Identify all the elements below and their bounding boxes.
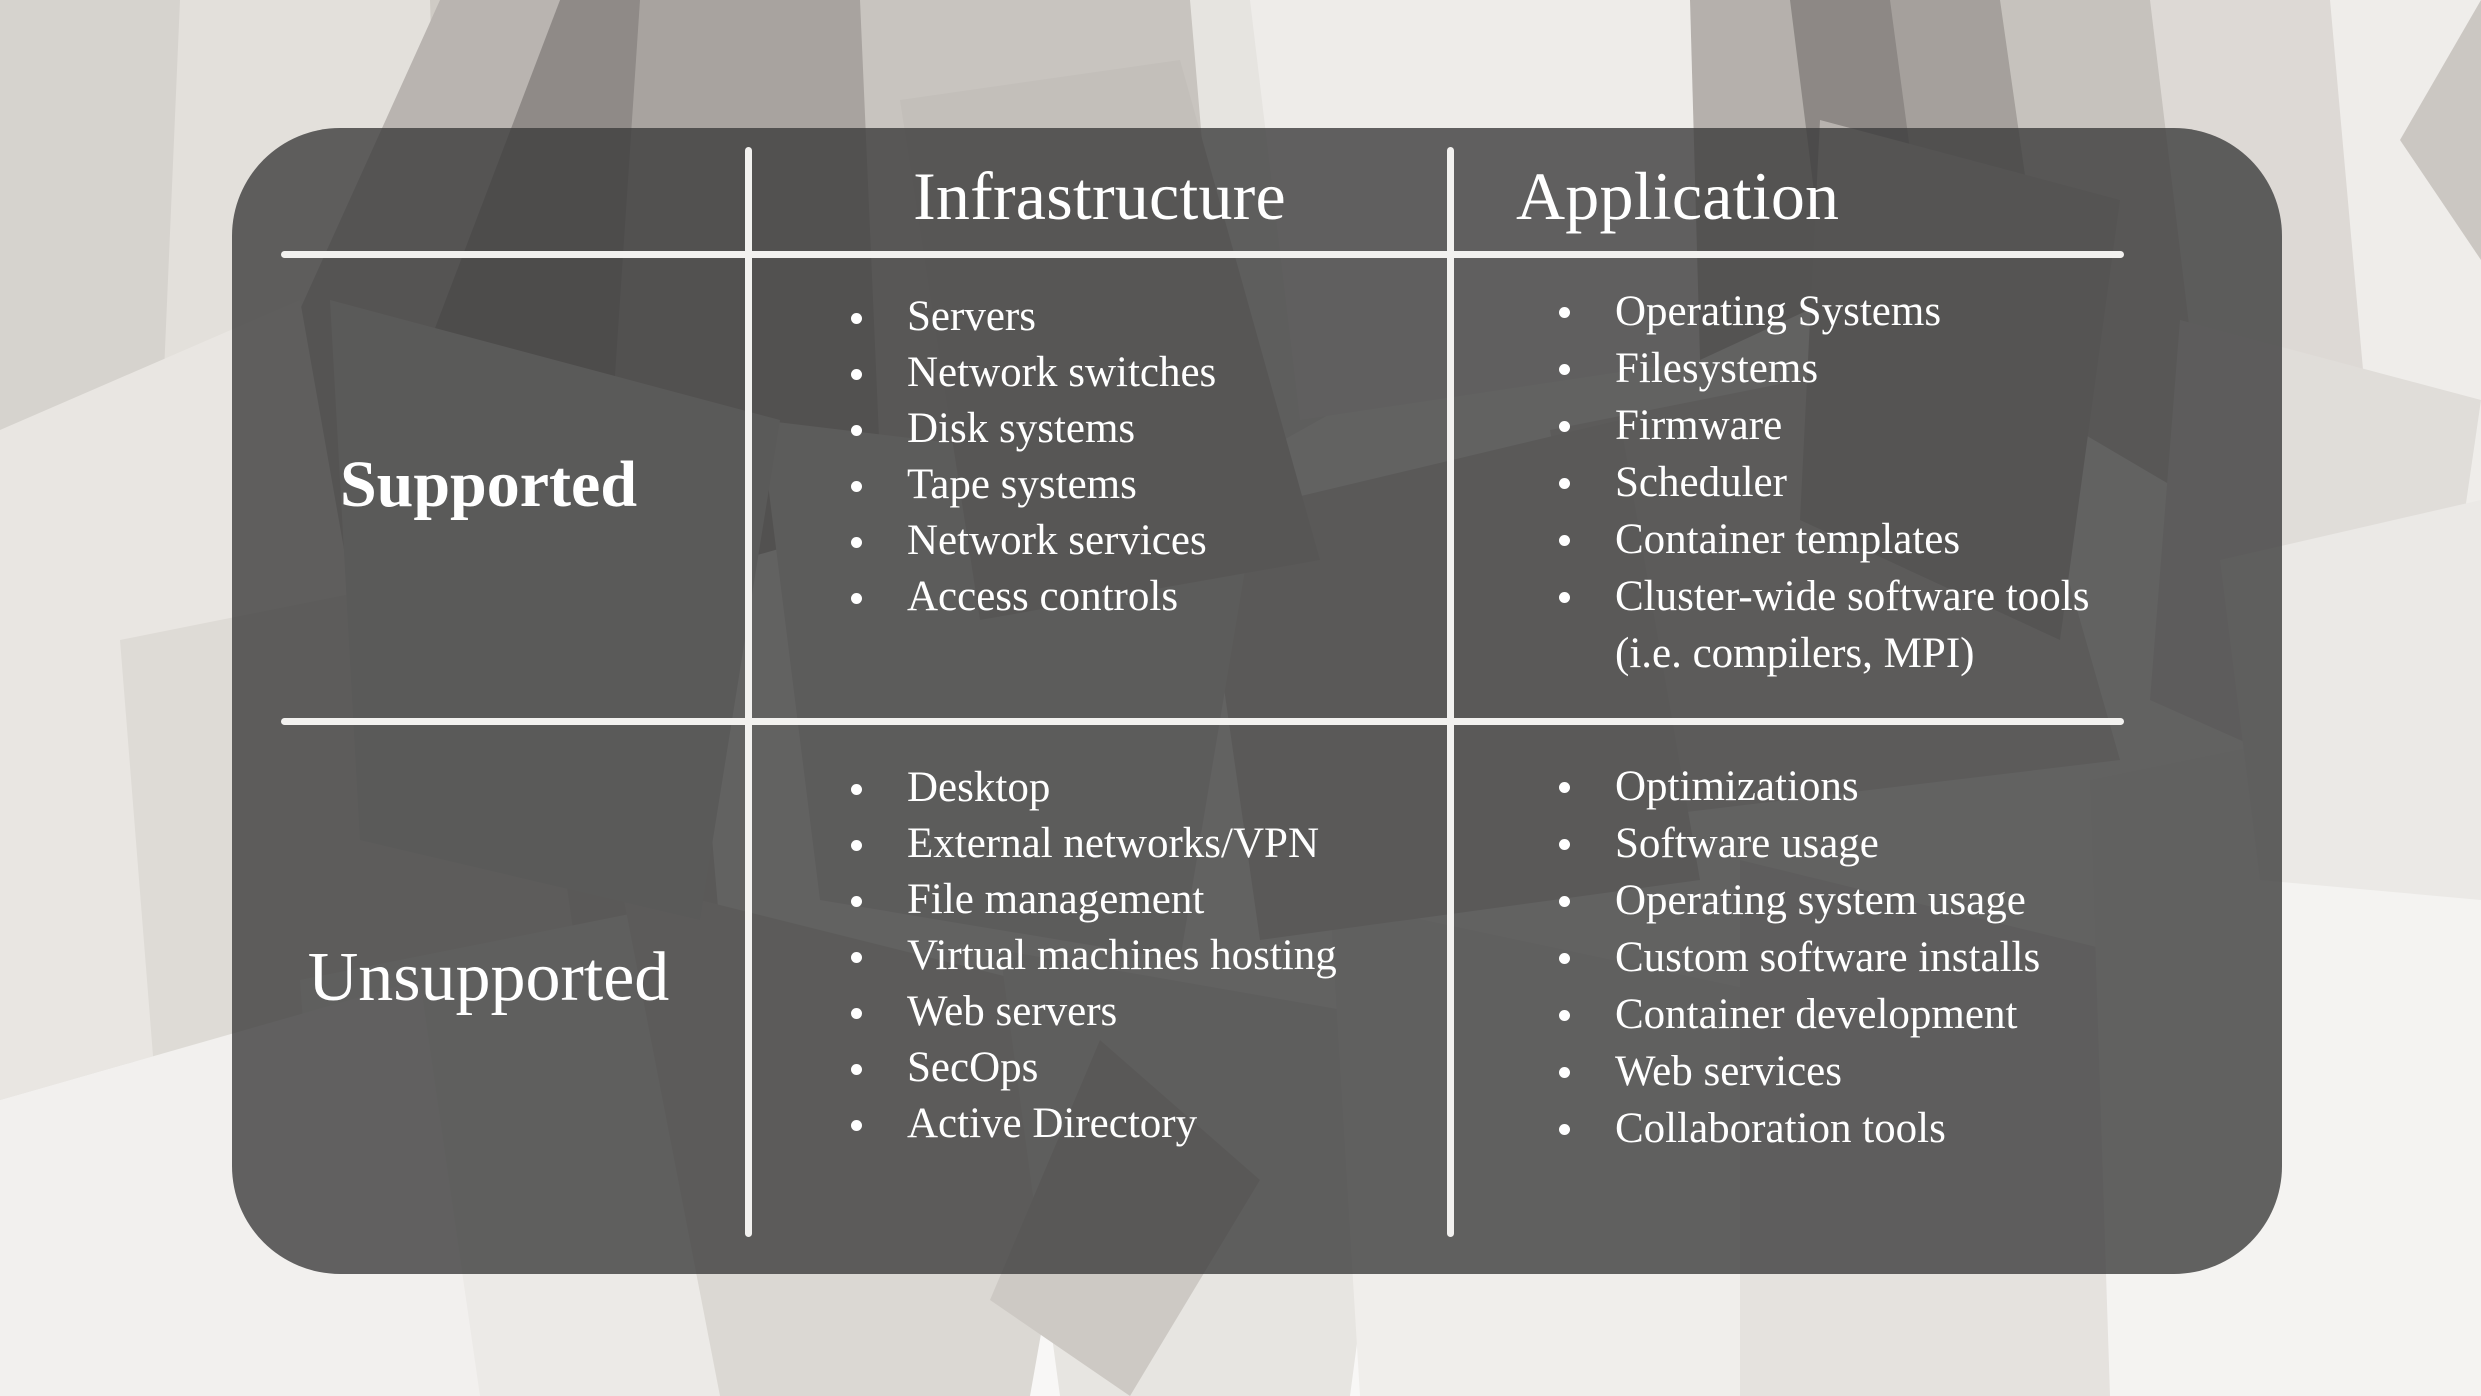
bullet-item: Optimizations	[1553, 758, 2227, 815]
bullet-item: File management	[845, 872, 1447, 928]
bullet-item: Access controls	[845, 569, 1447, 625]
column-header-application: Application	[1454, 146, 2174, 246]
bullet-item: Software usage	[1553, 815, 2227, 872]
cell-supported-infrastructure: ServersNetwork switchesDisk systemsTape …	[745, 251, 1447, 625]
bullet-item: Network switches	[845, 345, 1447, 401]
bullet-item: Container templates	[1553, 511, 2227, 568]
bullet-item: Custom software installs	[1553, 929, 2227, 986]
bullet-list: OptimizationsSoftware usageOperating sys…	[1553, 758, 2227, 1157]
bullet-item: SecOps	[845, 1040, 1447, 1096]
bullet-list: ServersNetwork switchesDisk systemsTape …	[845, 289, 1447, 625]
bullet-item: Servers	[845, 289, 1447, 345]
bullet-item: Collaboration tools	[1553, 1100, 2227, 1157]
cell-unsupported-application: OptimizationsSoftware usageOperating sys…	[1447, 718, 2227, 1157]
bullet-item: Scheduler	[1553, 454, 2227, 511]
bullet-item: Web servers	[845, 984, 1447, 1040]
bullet-list: DesktopExternal networks/VPNFile managem…	[845, 760, 1447, 1152]
bullet-item: Disk systems	[845, 401, 1447, 457]
bullet-item: Network services	[845, 513, 1447, 569]
bullet-item: Cluster-wide software tools (i.e. compil…	[1553, 568, 2227, 682]
bullet-item: Active Directory	[845, 1096, 1447, 1152]
bullet-item: External networks/VPN	[845, 816, 1447, 872]
matrix-card: Infrastructure Application Supported Uns…	[232, 128, 2282, 1274]
row-label-unsupported: Unsupported	[232, 718, 745, 1237]
row-label-supported: Supported	[232, 251, 745, 718]
column-header-infrastructure: Infrastructure	[752, 146, 1447, 246]
bullet-item: Operating Systems	[1553, 283, 2227, 340]
bullet-item: Web services	[1553, 1043, 2227, 1100]
bullet-item: Desktop	[845, 760, 1447, 816]
bullet-item: Operating system usage	[1553, 872, 2227, 929]
bullet-item: Firmware	[1553, 397, 2227, 454]
bullet-list: Operating SystemsFilesystemsFirmwareSche…	[1553, 283, 2227, 682]
bullet-item: Filesystems	[1553, 340, 2227, 397]
bullet-item: Container development	[1553, 986, 2227, 1043]
cell-unsupported-infrastructure: DesktopExternal networks/VPNFile managem…	[745, 718, 1447, 1152]
bullet-item: Virtual machines hosting	[845, 928, 1447, 984]
bullet-item: Tape systems	[845, 457, 1447, 513]
cell-supported-application: Operating SystemsFilesystemsFirmwareSche…	[1447, 251, 2227, 682]
slide-stage: Infrastructure Application Supported Uns…	[0, 0, 2481, 1396]
